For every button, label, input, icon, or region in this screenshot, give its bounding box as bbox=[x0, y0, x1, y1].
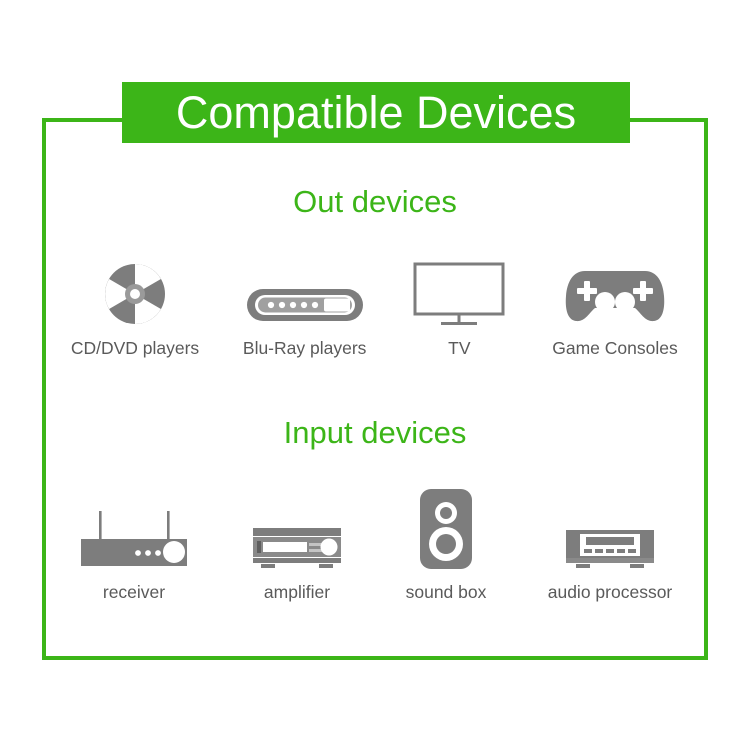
section-heading-out-devices: Out devices bbox=[0, 186, 750, 217]
tv-icon bbox=[413, 262, 505, 326]
cd-dvd-disc-icon bbox=[103, 262, 167, 326]
device-game-consoles[interactable]: Game Consoles bbox=[540, 266, 690, 358]
amplifier-icon bbox=[251, 526, 343, 570]
input-devices-row: receiver amplifier bbox=[60, 480, 690, 602]
device-label: sound box bbox=[406, 583, 487, 602]
out-devices-row: CD/DVD players Blu-Ray players bbox=[60, 248, 690, 358]
device-label: Game Consoles bbox=[552, 339, 677, 358]
receiver-icon bbox=[79, 508, 189, 570]
section-heading-input-devices: Input devices bbox=[0, 417, 750, 448]
device-receiver[interactable]: receiver bbox=[60, 508, 208, 602]
page-title: Compatible Devices bbox=[176, 90, 576, 135]
device-cd-dvd-players[interactable]: CD/DVD players bbox=[60, 262, 210, 358]
device-label: amplifier bbox=[264, 583, 330, 602]
device-amplifier[interactable]: amplifier bbox=[232, 526, 362, 602]
device-audio-processor[interactable]: audio processor bbox=[530, 526, 690, 602]
poster-canvas: Compatible Devices Out devices CD/DVD pl… bbox=[0, 0, 750, 750]
gamepad-icon bbox=[563, 266, 667, 326]
device-sound-box[interactable]: sound box bbox=[386, 488, 506, 602]
device-tv[interactable]: TV bbox=[399, 262, 519, 358]
audio-processor-icon bbox=[564, 526, 656, 570]
title-banner: Compatible Devices bbox=[122, 82, 630, 143]
blu-ray-player-icon bbox=[246, 284, 364, 326]
device-label: TV bbox=[448, 339, 470, 358]
device-blu-ray-players[interactable]: Blu-Ray players bbox=[231, 284, 379, 358]
device-label: audio processor bbox=[548, 583, 673, 602]
device-label: Blu-Ray players bbox=[243, 339, 367, 358]
device-label: receiver bbox=[103, 583, 165, 602]
device-label: CD/DVD players bbox=[71, 339, 199, 358]
speaker-icon bbox=[419, 488, 473, 570]
